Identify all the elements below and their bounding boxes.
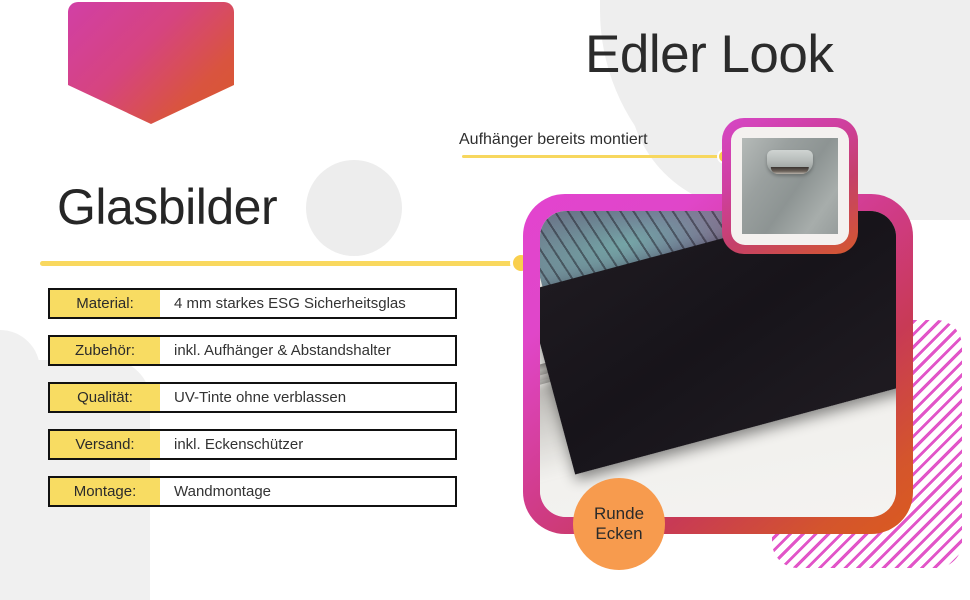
- spec-key: Material:: [50, 290, 160, 317]
- hanger-detail-inset: [722, 118, 858, 254]
- product-photo-frame: [523, 194, 913, 534]
- spec-value: 4 mm starkes ESG Sicherheitsglas: [160, 290, 455, 317]
- product-photo: [540, 211, 896, 517]
- decorative-circle-behind-title: [306, 160, 402, 256]
- badge-line-2: Ecken: [595, 524, 642, 544]
- hanger-plate-image: [742, 138, 838, 234]
- spec-value: inkl. Aufhänger & Abstandshalter: [160, 337, 455, 364]
- spec-key: Montage:: [50, 478, 160, 505]
- spec-value: Wandmontage: [160, 478, 455, 505]
- table-row: Zubehör: inkl. Aufhänger & Abstandshalte…: [48, 335, 457, 366]
- infographic-canvas: Edler Look Glasbilder Aufhänger bereits …: [0, 0, 970, 600]
- spec-value: inkl. Eckenschützer: [160, 431, 455, 458]
- decorative-blob-bottom-left-top: [0, 330, 40, 450]
- table-row: Material: 4 mm starkes ESG Sicherheitsgl…: [48, 288, 457, 319]
- spec-table: Material: 4 mm starkes ESG Sicherheitsgl…: [48, 288, 457, 523]
- headline-edler-look: Edler Look: [585, 24, 833, 85]
- connector-line-main: [40, 261, 526, 266]
- table-row: Montage: Wandmontage: [48, 476, 457, 507]
- hanger-slot-icon: [771, 167, 809, 175]
- callout-label-hanger: Aufhänger bereits montiert: [459, 131, 648, 149]
- spec-key: Zubehör:: [50, 337, 160, 364]
- spec-key: Versand:: [50, 431, 160, 458]
- table-row: Qualität: UV-Tinte ohne verblassen: [48, 382, 457, 413]
- spec-key: Qualität:: [50, 384, 160, 411]
- hanger-inset-white-frame: [731, 127, 849, 245]
- table-row: Versand: inkl. Eckenschützer: [48, 429, 457, 460]
- brand-shield-logo: [68, 2, 234, 124]
- callout-line-hanger: [462, 155, 727, 158]
- badge-line-1: Runde: [594, 504, 644, 524]
- badge-runde-ecken: Runde Ecken: [573, 478, 665, 570]
- spec-value: UV-Tinte ohne verblassen: [160, 384, 455, 411]
- page-title: Glasbilder: [57, 178, 277, 236]
